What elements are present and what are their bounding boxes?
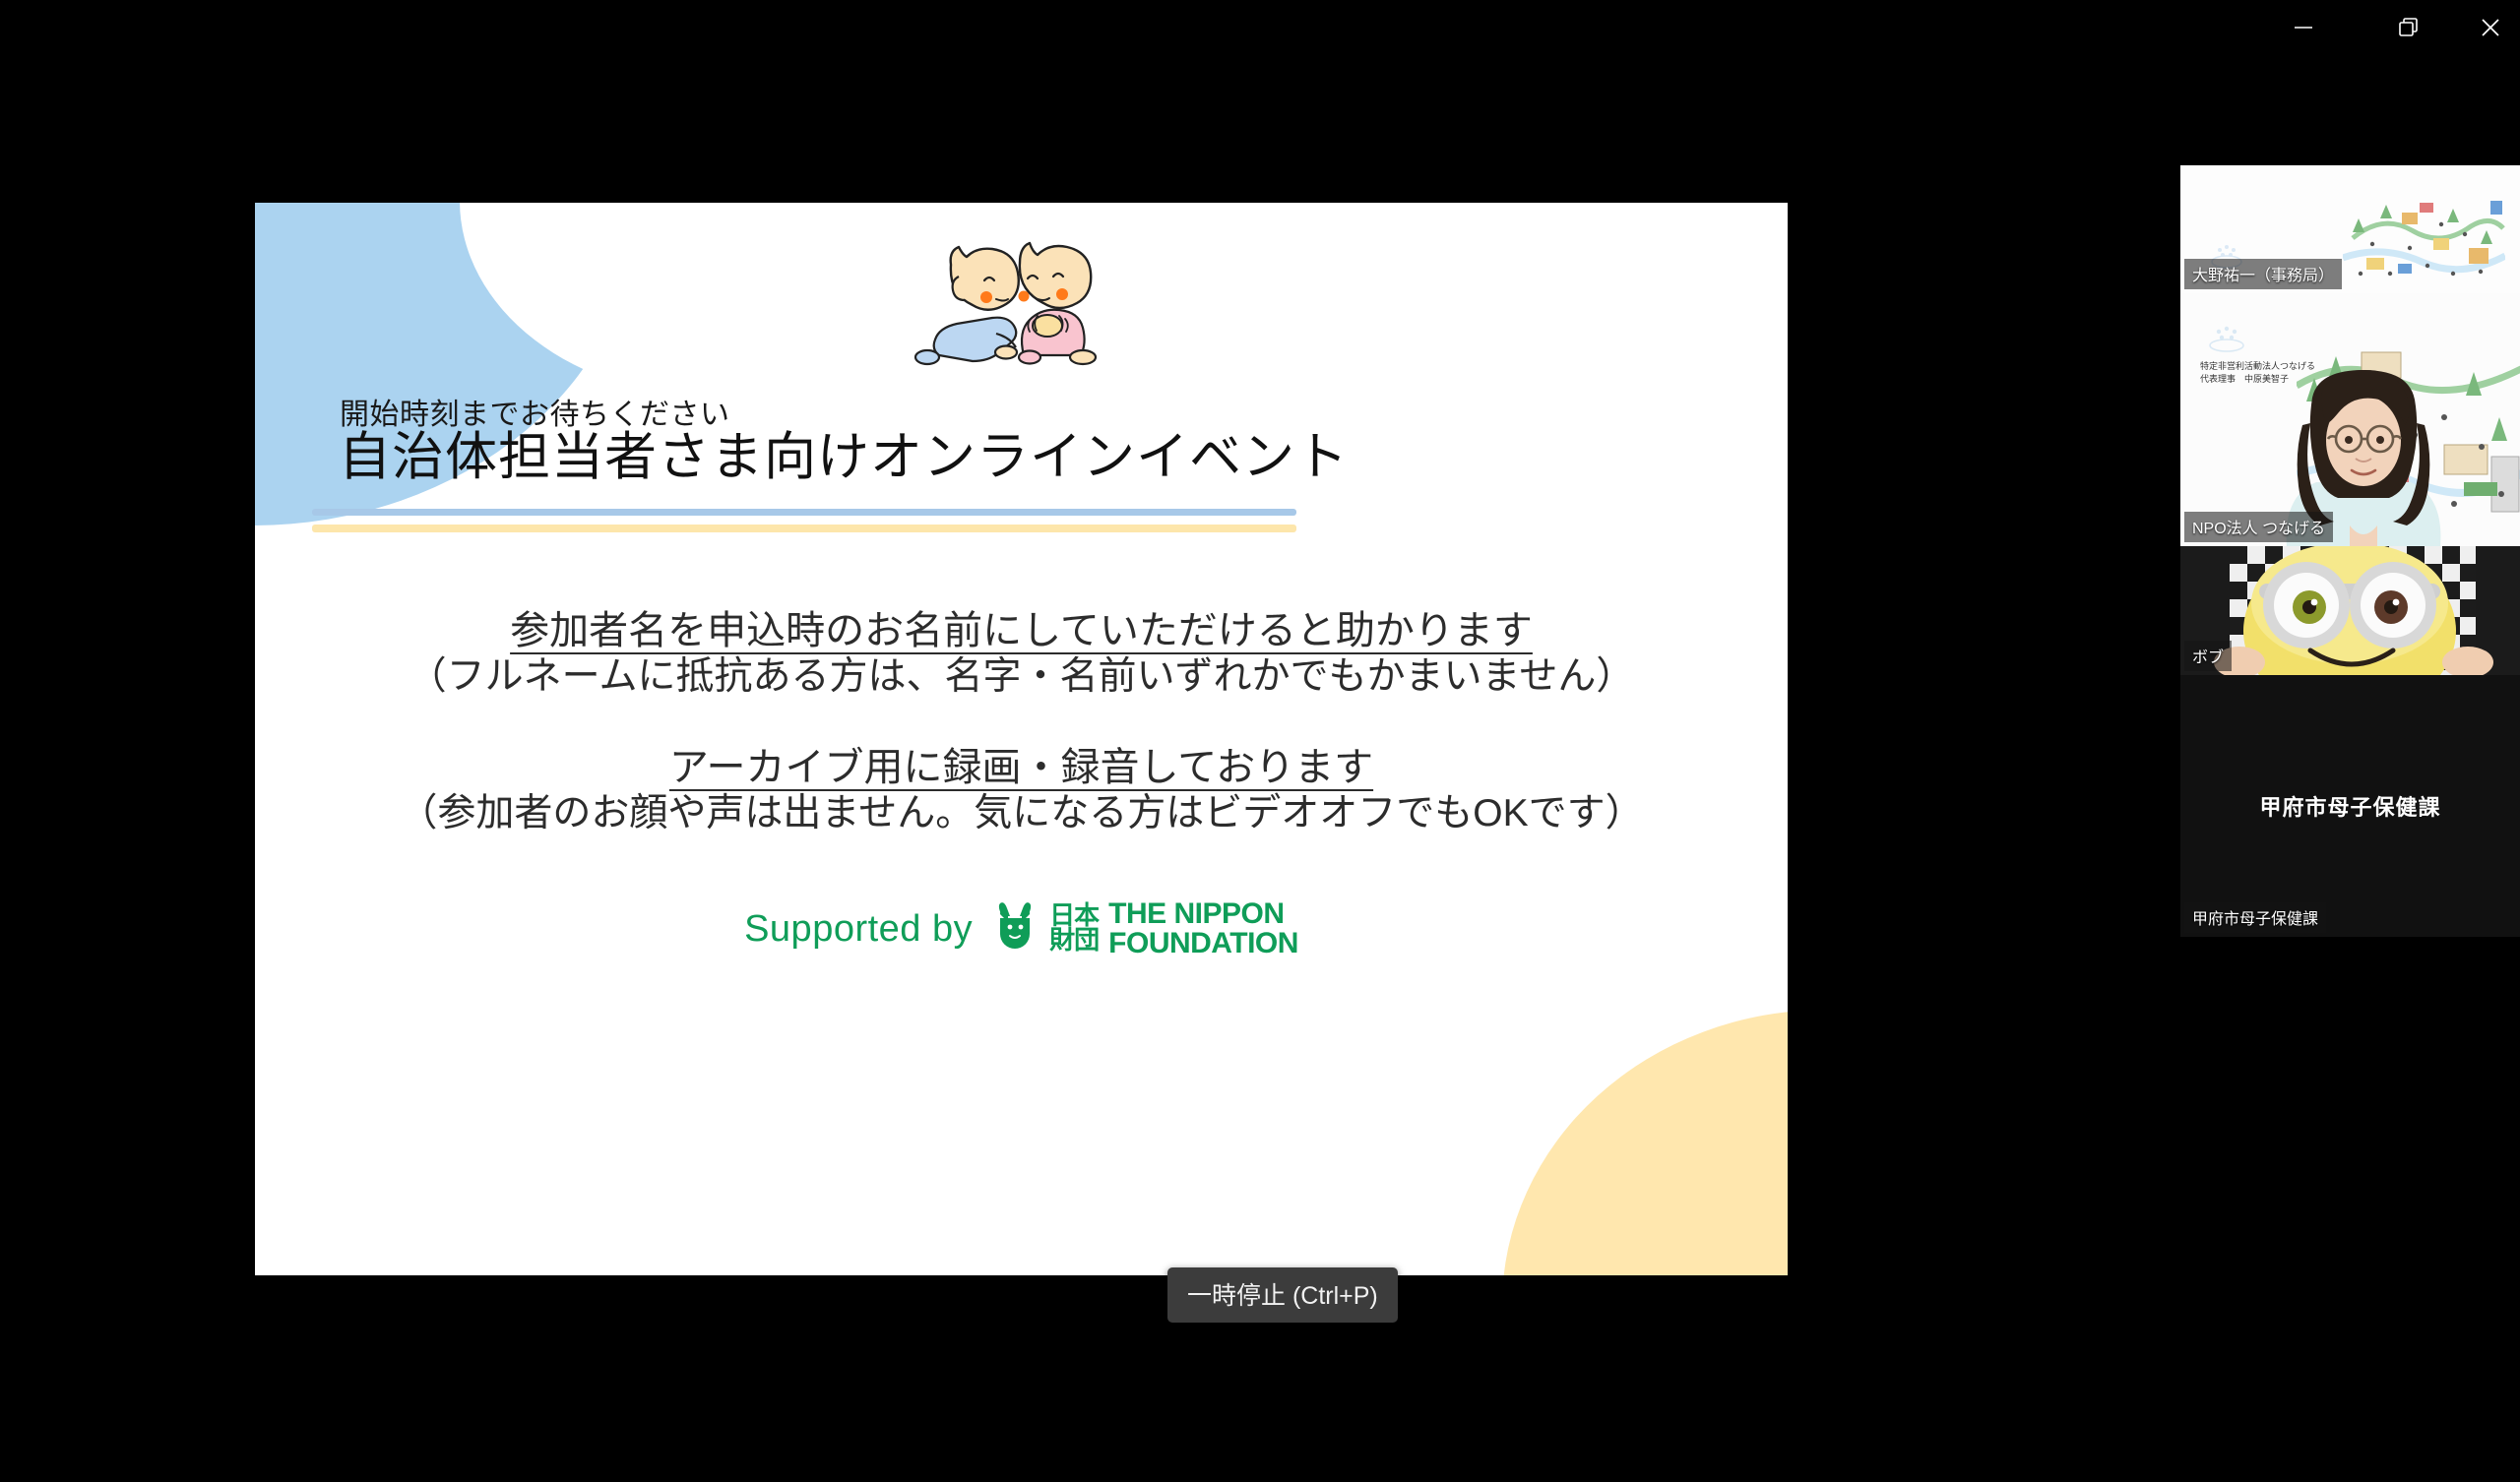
minimize-button[interactable] — [2258, 0, 2349, 55]
logo-en-line-2: FOUNDATION — [1108, 929, 1298, 958]
participant-4-center-label-wrap: 甲府市母子保健課 — [2180, 675, 2520, 937]
minimize-icon — [2291, 15, 2316, 40]
maximize-button[interactable] — [2362, 0, 2453, 55]
supported-by-label: Supported by — [744, 908, 973, 951]
app-window: 開始時刻までお待ちください 自治体担当者さま向けオンラインイベント — [0, 0, 2520, 1482]
logo-kanji-line-2: 財団 — [1049, 929, 1099, 954]
nippon-foundation-kanji: 日本 財団 — [1049, 904, 1099, 953]
body-line-2: （フルネームに抵抗ある方は、名字・名前いずれかでもかまいません） — [255, 646, 1788, 701]
close-button[interactable] — [2457, 0, 2520, 55]
presentation-slide: 開始時刻までお待ちください 自治体担当者さま向けオンラインイベント — [255, 203, 1788, 1275]
title-rule-yellow — [312, 525, 1296, 532]
participant-name-3: ボブ — [2184, 641, 2232, 671]
participant-name-2: NPO法人 つなげる — [2184, 512, 2333, 542]
logo-en-line-1: THE NIPPON — [1108, 899, 1298, 929]
body-line-4: （参加者のお顔や声は出ません。気になる方はビデオオフでもOKです） — [255, 782, 1788, 837]
participant-tile-2[interactable]: 特定非営利活動法人つなげる 代表理事 中原美智子 NPO法人 つなげる — [2180, 293, 2520, 546]
nippon-foundation-wordmark: THE NIPPON FOUNDATION — [1108, 899, 1298, 958]
babies-illustration — [900, 208, 1106, 385]
decorative-yellow-shape — [1502, 1010, 1788, 1275]
close-icon — [2477, 14, 2504, 41]
supported-by-footer: Supported by 日本 財団 — [255, 899, 1788, 958]
participant-name-4: 甲府市母子保健課 — [2184, 902, 2326, 933]
participant-name-1: 大野祐一（事務局） — [2184, 259, 2342, 289]
slide-title: 自治体担当者さま向けオンラインイベント — [339, 415, 1349, 490]
participant-4-center-label: 甲府市母子保健課 — [2259, 790, 2440, 822]
title-rule-blue — [312, 509, 1296, 516]
participant-tile-1[interactable]: 大野祐一（事務局） — [2180, 165, 2520, 293]
nippon-foundation-logo: 日本 財団 THE NIPPON FOUNDATION — [990, 899, 1298, 958]
nippon-foundation-mark-icon — [990, 900, 1039, 958]
pause-tooltip: 一時停止 (Ctrl+P) — [1167, 1267, 1398, 1323]
restore-icon — [2395, 15, 2421, 40]
video-participants-panel: 大野祐一（事務局） — [2180, 165, 2520, 1482]
participant-tile-3[interactable]: ボブ — [2180, 546, 2520, 675]
participant-tile-4[interactable]: 甲府市母子保健課 甲府市母子保健課 — [2180, 675, 2520, 937]
